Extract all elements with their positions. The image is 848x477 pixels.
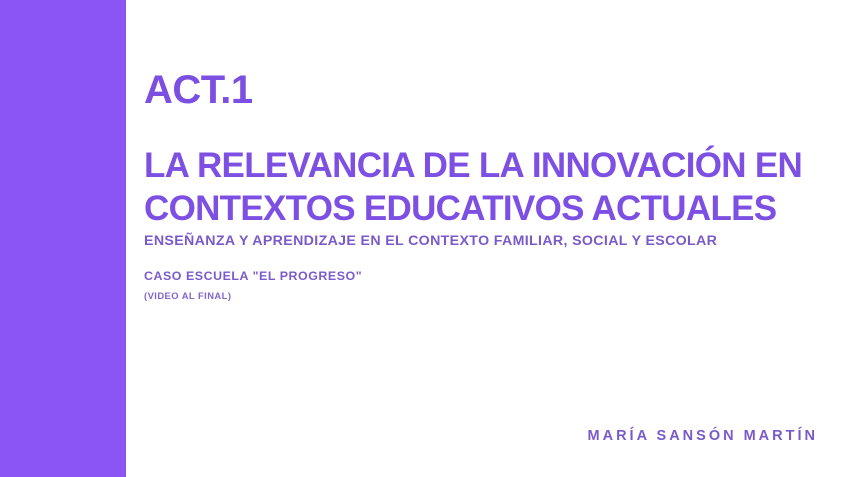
page-title-line-2: CONTEXTOS EDUCATIVOS ACTUALES [144, 188, 802, 231]
subtitle: ENSEÑANZA Y APRENDIZAJE EN EL CONTEXTO F… [144, 233, 717, 249]
presentation-slide: ACT.1 LA RELEVANCIA DE LA INNOVACIÓN EN … [0, 0, 848, 477]
case-study-label: CASO ESCUELA "EL PROGRESO" [144, 269, 362, 283]
slide-content: ACT.1 LA RELEVANCIA DE LA INNOVACIÓN EN … [144, 0, 848, 477]
page-title: LA RELEVANCIA DE LA INNOVACIÓN EN CONTEX… [144, 145, 802, 230]
page-title-line-1: LA RELEVANCIA DE LA INNOVACIÓN EN [144, 145, 802, 188]
author-name: MARÍA SANSÓN MARTÍN [588, 428, 818, 444]
activity-label: ACT.1 [144, 70, 253, 110]
accent-side-bar [0, 0, 126, 477]
video-note: (VIDEO AL FINAL) [144, 290, 231, 301]
